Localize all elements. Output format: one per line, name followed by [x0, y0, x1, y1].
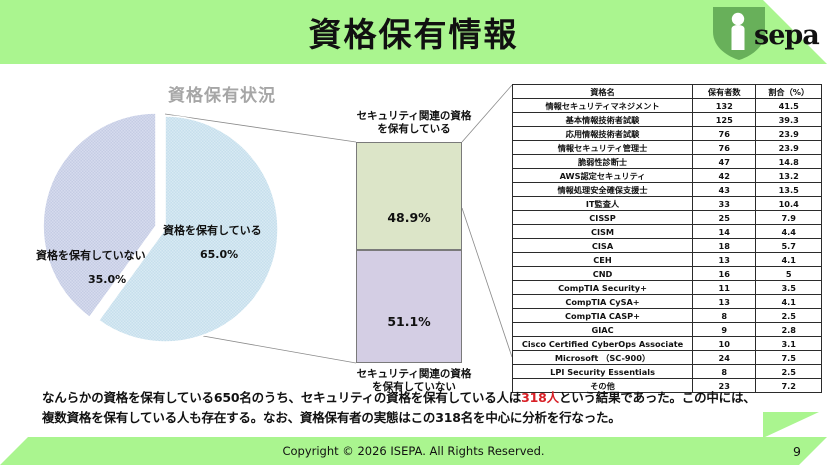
cell-holder-count: 33	[693, 197, 756, 211]
cell-ratio: 5	[756, 267, 822, 281]
col-header-cert-name: 資格名	[513, 85, 693, 99]
cell-cert-name: Cisco Certified CyberOps Associate	[513, 337, 693, 351]
cell-ratio: 41.5	[756, 99, 822, 113]
cell-ratio: 14.8	[756, 155, 822, 169]
cell-cert-name: CISM	[513, 225, 693, 239]
bar-caption-top-line2: を保有している	[334, 123, 494, 136]
col-header-ratio: 割合（%）	[756, 85, 822, 99]
table-row: 情報処理安全確保支援士4313.5	[513, 183, 822, 197]
cell-holder-count: 42	[693, 169, 756, 183]
cell-holder-count: 18	[693, 239, 756, 253]
cell-cert-name: LPI Security Essentials	[513, 365, 693, 379]
bar-segment-security-cert-yes	[356, 142, 462, 250]
table-row: 応用情報技術者試験7623.9	[513, 127, 822, 141]
table-row: IT監査人3310.4	[513, 197, 822, 211]
cell-holder-count: 9	[693, 323, 756, 337]
table-row: CISSP257.9	[513, 211, 822, 225]
cell-cert-name: AWS認定セキュリティ	[513, 169, 693, 183]
bar-caption-top-line1: セキュリティ関連の資格	[334, 110, 494, 123]
bar-caption-top: セキュリティ関連の資格 を保有している	[334, 110, 494, 136]
cell-cert-name: CISA	[513, 239, 693, 253]
certification-table-wrapper: 資格名 保有者数 割合（%） 情報セキュリティマネジメント13241.5基本情報…	[512, 84, 822, 393]
cell-cert-name: CISSP	[513, 211, 693, 225]
pie-chart-title: 資格保有状況	[168, 81, 276, 106]
caption-line1-part2: という結果であった。この中には、	[559, 390, 756, 405]
pie-chart: 資格を保有している 65.0% 資格を保有していない 35.0%	[28, 106, 300, 356]
cell-ratio: 7.9	[756, 211, 822, 225]
table-row: AWS認定セキュリティ4213.2	[513, 169, 822, 183]
copyright-text: Copyright © 2026 ISEPA. All Rights Reser…	[0, 437, 827, 465]
bar-segment-security-cert-no	[356, 250, 462, 363]
table-row: CISA185.7	[513, 239, 822, 253]
bar-caption-bottom-line1: セキュリティ関連の資格	[334, 368, 494, 381]
cell-ratio: 23.9	[756, 127, 822, 141]
cell-holder-count: 14	[693, 225, 756, 239]
cell-holder-count: 16	[693, 267, 756, 281]
footer-band: Copyright © 2026 ISEPA. All Rights Reser…	[0, 437, 827, 465]
cell-holder-count: 47	[693, 155, 756, 169]
page-number: 9	[793, 437, 801, 465]
col-header-holder-count: 保有者数	[693, 85, 756, 99]
table-row: CISM144.4	[513, 225, 822, 239]
cell-ratio: 3.1	[756, 337, 822, 351]
cell-ratio: 4.4	[756, 225, 822, 239]
slide-canvas: 資格保有情報 sepa 資格保有状況	[0, 0, 827, 465]
cell-holder-count: 24	[693, 351, 756, 365]
caption-line2: 複数資格を保有している人も存在する。なお、資格保有者の実態はこの318名を中心に…	[42, 408, 802, 428]
cell-ratio: 4.1	[756, 295, 822, 309]
bar-value-security-cert-yes: 48.9%	[356, 210, 462, 225]
cell-holder-count: 8	[693, 309, 756, 323]
cell-holder-count: 11	[693, 281, 756, 295]
table-row: Microsoft （SC-900）247.5	[513, 351, 822, 365]
caption-highlight-318: 318人	[521, 390, 559, 405]
pie-slice-label-no-cert: 資格を保有していない	[36, 247, 146, 263]
footer-triangle-decoration	[763, 412, 819, 438]
cell-cert-name: 情報処理安全確保支援士	[513, 183, 693, 197]
bar-value-security-cert-no: 51.1%	[356, 314, 462, 329]
cell-ratio: 2.8	[756, 323, 822, 337]
table-row: CND165	[513, 267, 822, 281]
cell-ratio: 5.7	[756, 239, 822, 253]
cell-holder-count: 76	[693, 141, 756, 155]
table-row: GIAC92.8	[513, 323, 822, 337]
cell-holder-count: 132	[693, 99, 756, 113]
table-row: 基本情報技術者試験12539.3	[513, 113, 822, 127]
cell-holder-count: 76	[693, 127, 756, 141]
cell-ratio: 7.5	[756, 351, 822, 365]
cell-cert-name: 脆弱性診断士	[513, 155, 693, 169]
table-header-row: 資格名 保有者数 割合（%）	[513, 85, 822, 99]
cell-holder-count: 25	[693, 211, 756, 225]
stacked-bar-chart: セキュリティ関連の資格 を保有している 48.9% 51.1% セキュリティ関連…	[336, 106, 496, 366]
slide-body: 資格保有状況	[0, 64, 827, 382]
cell-ratio: 4.1	[756, 253, 822, 267]
pie-slice-value-has-cert: 65.0%	[200, 248, 238, 261]
summary-caption: なんらかの資格を保有している650名のうち、セキュリティの資格を保有している人は…	[42, 388, 802, 428]
table-row: 脆弱性診断士4714.8	[513, 155, 822, 169]
cell-holder-count: 43	[693, 183, 756, 197]
cell-holder-count: 10	[693, 337, 756, 351]
cell-holder-count: 13	[693, 253, 756, 267]
cell-cert-name: CompTIA CASP+	[513, 309, 693, 323]
cell-holder-count: 8	[693, 365, 756, 379]
table-row: CEH134.1	[513, 253, 822, 267]
cell-ratio: 10.4	[756, 197, 822, 211]
cell-ratio: 2.5	[756, 309, 822, 323]
table-row: CompTIA Security+113.5	[513, 281, 822, 295]
caption-line1-part1: なんらかの資格を保有している650名のうち、セキュリティの資格を保有している人は	[42, 390, 521, 405]
certification-table-head: 資格名 保有者数 割合（%）	[513, 85, 822, 99]
table-row: LPI Security Essentials82.5	[513, 365, 822, 379]
cell-cert-name: IT監査人	[513, 197, 693, 211]
logo-wordmark: sepa	[754, 20, 819, 51]
table-row: 情報セキュリティマネジメント13241.5	[513, 99, 822, 113]
cell-ratio: 13.5	[756, 183, 822, 197]
cell-holder-count: 125	[693, 113, 756, 127]
cell-holder-count: 13	[693, 295, 756, 309]
isepa-logo: sepa	[697, 2, 819, 64]
cell-cert-name: GIAC	[513, 323, 693, 337]
table-row: 情報セキュリティ管理士7623.9	[513, 141, 822, 155]
pie-slice-label-has-cert: 資格を保有している	[163, 222, 262, 238]
pie-slice-value-no-cert: 35.0%	[88, 273, 126, 286]
table-row: CompTIA CySA+134.1	[513, 295, 822, 309]
certification-table: 資格名 保有者数 割合（%） 情報セキュリティマネジメント13241.5基本情報…	[512, 84, 822, 393]
cell-cert-name: CEH	[513, 253, 693, 267]
cell-cert-name: CompTIA Security+	[513, 281, 693, 295]
cell-ratio: 3.5	[756, 281, 822, 295]
cell-cert-name: 情報セキュリティマネジメント	[513, 99, 693, 113]
cell-cert-name: CompTIA CySA+	[513, 295, 693, 309]
table-row: CompTIA CASP+82.5	[513, 309, 822, 323]
cell-cert-name: 応用情報技術者試験	[513, 127, 693, 141]
cell-cert-name: 基本情報技術者試験	[513, 113, 693, 127]
cell-cert-name: 情報セキュリティ管理士	[513, 141, 693, 155]
cell-cert-name: CND	[513, 267, 693, 281]
certification-table-body: 情報セキュリティマネジメント13241.5基本情報技術者試験12539.3応用情…	[513, 99, 822, 393]
cell-ratio: 13.2	[756, 169, 822, 183]
cell-ratio: 23.9	[756, 141, 822, 155]
cell-ratio: 2.5	[756, 365, 822, 379]
table-row: Cisco Certified CyberOps Associate103.1	[513, 337, 822, 351]
cell-cert-name: Microsoft （SC-900）	[513, 351, 693, 365]
cell-ratio: 39.3	[756, 113, 822, 127]
